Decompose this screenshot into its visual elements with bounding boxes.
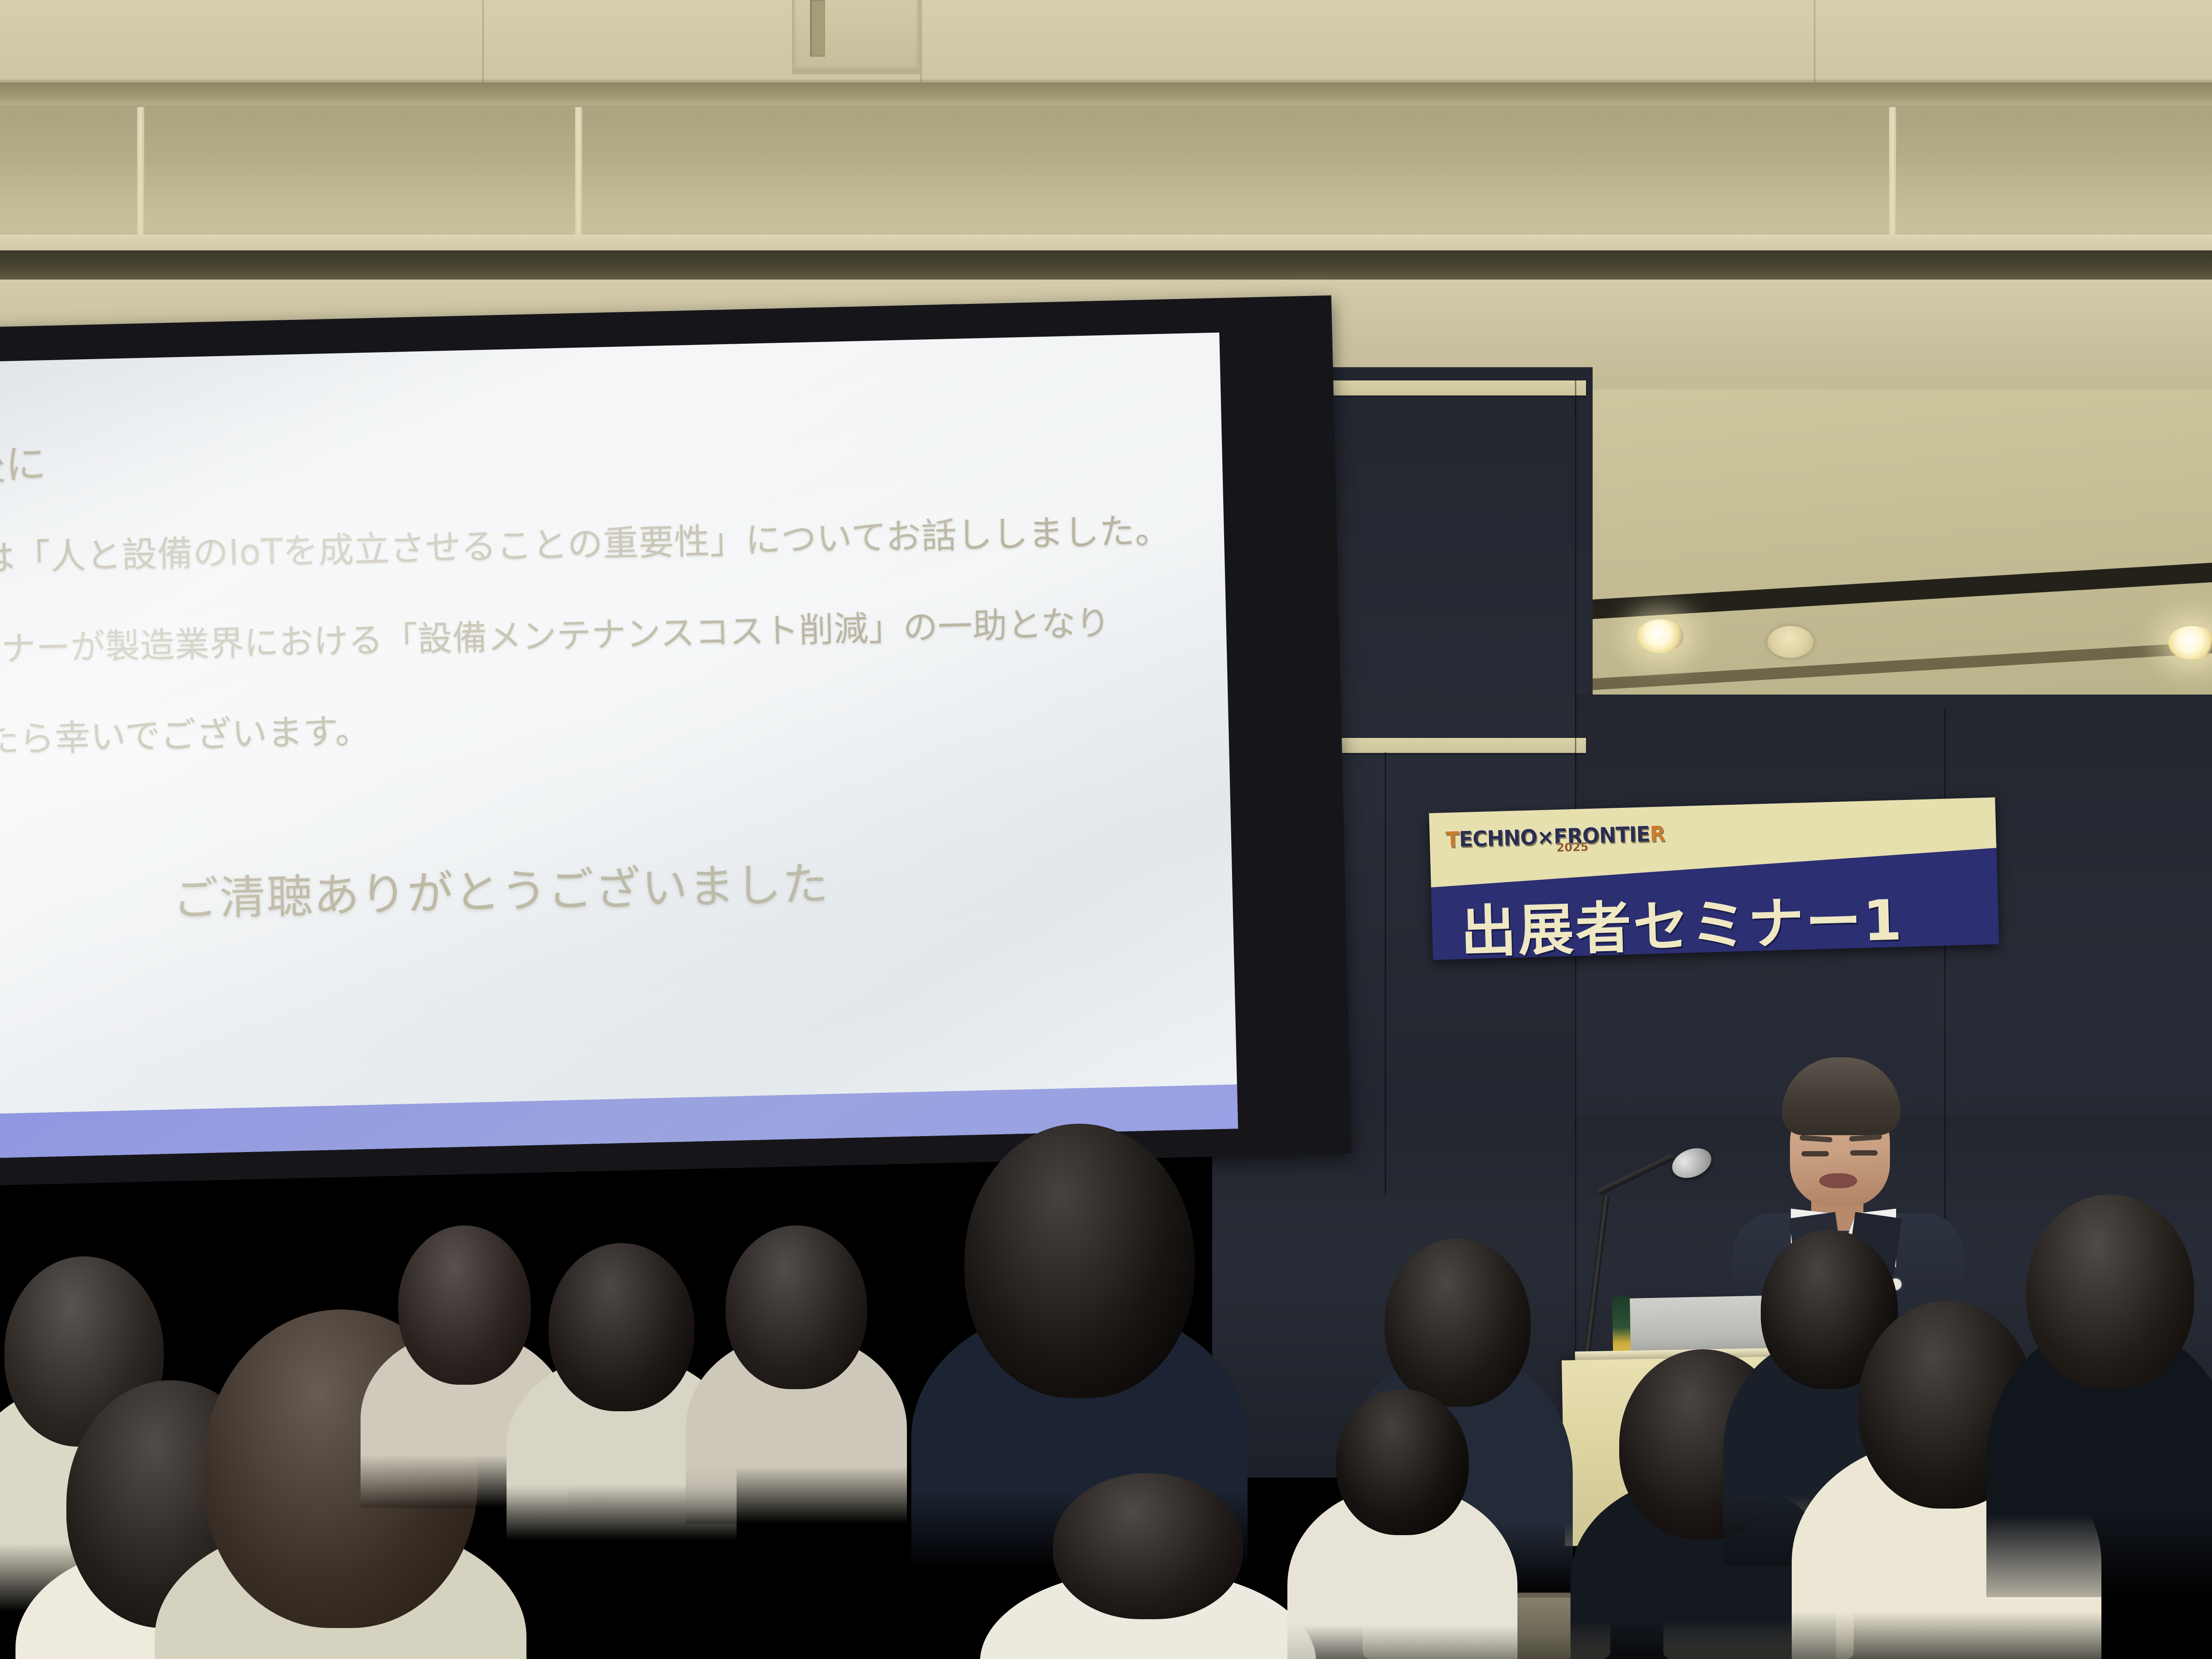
audience-member-head <box>549 1243 695 1411</box>
ceiling-top-panel <box>0 0 2212 82</box>
ceiling-recess <box>0 105 2212 243</box>
presenter-eye-right <box>1850 1150 1878 1156</box>
ceiling-seam <box>920 0 922 82</box>
downlight-icon <box>1637 619 1684 653</box>
seminar-photo-scene: 最後に 本日は「人と設備のIoTを成立させることの重要性」についてお話ししました… <box>0 0 2212 1659</box>
audience-member-head <box>398 1225 531 1385</box>
presenter-hair <box>1782 1057 1901 1135</box>
logo-text: ECHNO×FRONTIE <box>1459 822 1650 852</box>
audience-member-head <box>1385 1239 1531 1407</box>
audience-member-head <box>1053 1473 1243 1619</box>
ceiling-ledge <box>0 234 2212 252</box>
audience-member-head <box>964 1124 1194 1398</box>
banner-event-year: 2025 <box>1556 841 1589 855</box>
ceiling-mullion <box>137 107 144 240</box>
slide-heading: 最後に <box>0 431 47 493</box>
slide-content: 最後に 本日は「人と設備のIoTを成立させることの重要性」についてお話ししました… <box>0 333 1238 1158</box>
ceiling-vent <box>792 0 920 74</box>
partition-trim-strip <box>1298 380 1586 396</box>
logo-letter-r: R <box>1649 821 1665 847</box>
projection-screen-frame: 最後に 本日は「人と設備のIoTを成立させることの重要性」についてお話ししました… <box>0 296 1352 1186</box>
ceiling-dark-band <box>0 82 2212 105</box>
banner-title: 出展者セミナー1 <box>1459 875 1905 960</box>
audience-member-head <box>726 1225 867 1389</box>
drink-bottle <box>1612 1296 1631 1353</box>
ceiling-mullion <box>575 107 582 240</box>
ceiling-vent-slot <box>810 0 825 57</box>
audience-member-head <box>2026 1194 2194 1389</box>
seminar-banner: TECHNO×FRONTIER 2025 出展者セミナー1 <box>1429 797 1999 960</box>
presenter-mouth <box>1819 1173 1857 1188</box>
partition-seam <box>1385 752 1386 1194</box>
ceiling-seam <box>1814 0 1816 82</box>
downlight-icon <box>2168 626 2212 660</box>
slide-closing-message: ご清聴ありがとうございました <box>172 846 830 929</box>
slide-paragraph-2: 本セミナーが製造業界における「設備メンテナンスコスト削減」の一助となり <box>0 595 1111 674</box>
ceiling-seam <box>482 0 484 82</box>
logo-letter-t: T <box>1445 827 1459 853</box>
slide-paragraph-1: 本日は「人と設備のIoTを成立させることの重要性」についてお話ししました。 <box>0 502 1171 583</box>
slide-paragraph-3: ましたら幸いでございます。 <box>0 702 371 764</box>
ceiling-mullion <box>1889 107 1896 240</box>
presenter-eye-left <box>1801 1151 1829 1156</box>
projection-screen: 最後に 本日は「人と設備のIoTを成立させることの重要性」についてお話ししました… <box>0 333 1238 1158</box>
downlight-icon <box>1767 626 1813 658</box>
audience-member-head <box>1336 1389 1469 1535</box>
ceiling-shadow-band <box>0 250 2212 282</box>
partition-trim-strip <box>1301 738 1586 753</box>
